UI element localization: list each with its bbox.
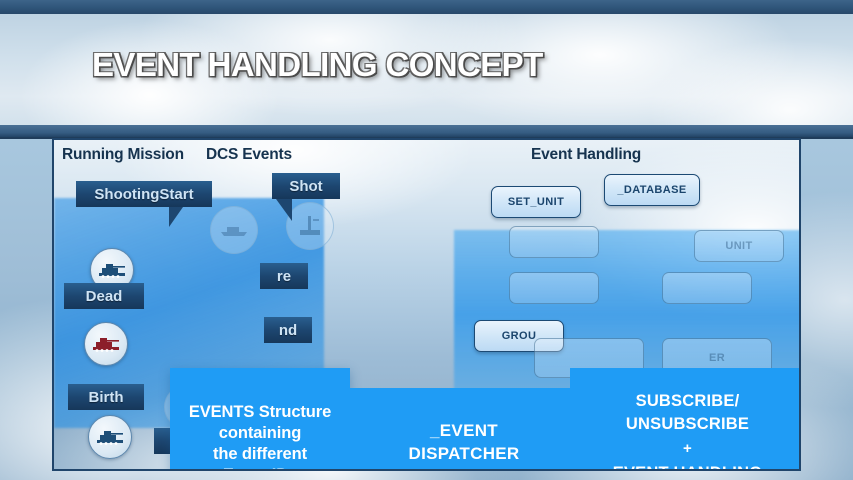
event-tag-shot-pointer	[276, 199, 292, 221]
event-tag-shootingstart: ShootingStart	[76, 181, 212, 207]
overlay-event-dispatcher: _EVENT DISPATCHER OBJECT	[350, 388, 578, 471]
event-dispatcher-line3: OBJECT	[429, 465, 500, 472]
class-button-hidden-3[interactable]	[662, 272, 752, 304]
unit-icon-tank-blue-2	[88, 415, 132, 459]
header-dcs-events: DCS Events	[206, 146, 292, 164]
event-tag-birth: Birth	[68, 384, 144, 410]
unit-icon-tank-red	[84, 322, 128, 366]
event-dispatcher-line2: DISPATCHER	[409, 442, 520, 465]
header-event-handling: Event Handling	[531, 146, 641, 164]
event-handling-line1: SUBSCRIBE/	[636, 390, 740, 413]
slide-title: EVENT HANDLING CONCEPT	[92, 46, 543, 84]
event-tag-shot: Shot	[272, 173, 340, 199]
overlay-event-handling: SUBSCRIBE/ UNSUBSCRIBE + EVENT HANDLING …	[570, 368, 801, 471]
class-button-database[interactable]: _DATABASE	[604, 174, 700, 206]
header-running-mission: Running Mission	[62, 146, 184, 164]
class-button-unit[interactable]: UNIT	[694, 230, 784, 262]
event-tag-shootingstart-pointer	[169, 207, 183, 227]
event-handling-line2: UNSUBSCRIBE	[626, 413, 749, 436]
class-button-set-unit[interactable]: SET_UNIT	[491, 186, 581, 218]
event-handling-plus: +	[683, 436, 692, 462]
slide-stage: EVENT HANDLING CONCEPT Running Mission D…	[0, 0, 853, 480]
events-structure-line2: containing	[219, 423, 301, 444]
diagram-panel: Running Mission DCS Events Event Handlin…	[52, 138, 801, 471]
event-dispatcher-line1: _EVENT	[430, 419, 498, 442]
header-top-band	[0, 0, 853, 14]
overlay-events-structure: EVENTS Structure containing the differen…	[170, 368, 350, 471]
unit-icon-ship-ghost	[210, 206, 258, 254]
events-structure-line4: Event IDs	[223, 465, 297, 471]
event-tag-land-partial: nd	[264, 317, 312, 343]
events-structure-line1: EVENTS Structure	[189, 402, 331, 423]
class-button-hidden-2[interactable]	[509, 272, 599, 304]
events-structure-line3: the different	[213, 444, 307, 465]
event-tag-fire-partial: re	[260, 263, 308, 289]
panel-headers: Running Mission DCS Events Event Handlin…	[54, 146, 799, 168]
event-handling-line3: EVENT HANDLING	[613, 462, 762, 471]
unit-icon-launcher-ghost	[286, 202, 334, 250]
event-tag-dead: Dead	[64, 283, 144, 309]
class-button-hidden-1[interactable]	[509, 226, 599, 258]
